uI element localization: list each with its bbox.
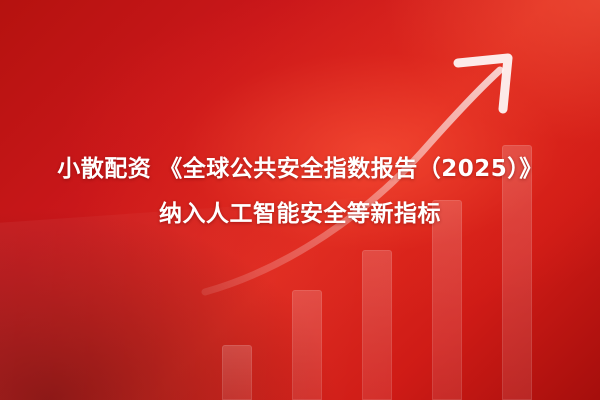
bar-2 (292, 290, 322, 400)
brand-prefix: 小散配资 (57, 156, 151, 182)
headline-title: 《全球公共安全指数报告（2025）》 (159, 156, 543, 182)
banner-image: 小散配资《全球公共安全指数报告（2025）》 纳入人工智能安全等新指标 (0, 0, 600, 400)
headline-block: 小散配资《全球公共安全指数报告（2025）》 纳入人工智能安全等新指标 (0, 152, 600, 231)
bar-3 (362, 250, 392, 400)
ascending-bar-chart (210, 100, 540, 400)
bar-1 (222, 345, 252, 400)
headline-line-1: 小散配资《全球公共安全指数报告（2025）》 (0, 152, 600, 187)
headline-line-2: 纳入人工智能安全等新指标 (0, 197, 600, 232)
